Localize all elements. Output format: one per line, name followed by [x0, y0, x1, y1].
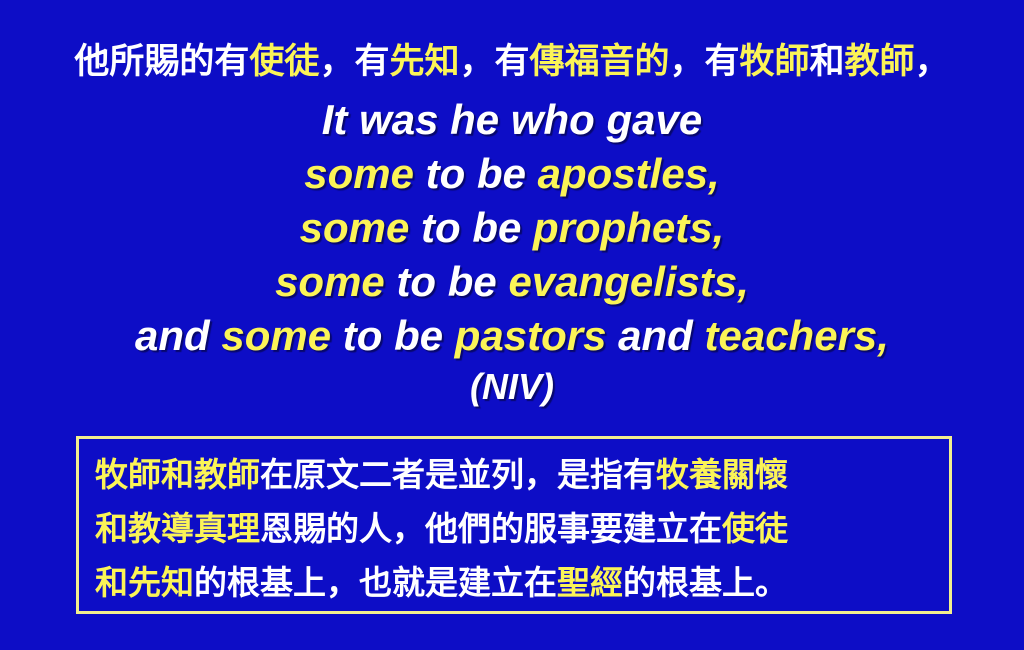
text-segment-highlight: 牧養關懷 [656, 455, 788, 494]
text-segment-plain: 和 [810, 42, 845, 82]
text-segment-plain: ，有 [459, 42, 529, 82]
text-segment-highlight: 和教導真理 [95, 509, 260, 548]
text-segment-plain: 的根基上，也就是建立在 [194, 563, 557, 602]
scripture-english-line: (NIV) [0, 363, 1024, 411]
presentation-slide: 他所賜的有使徒，有先知，有傳福音的，有牧師和教師， It was he who … [0, 0, 1024, 650]
commentary-text: 牧師和教師在原文二者是並列，是指有牧養關懷和教導真理恩賜的人，他們的服事要建立在… [95, 448, 933, 610]
text-segment-highlight: 牧師和教師 [95, 455, 260, 494]
text-segment-highlight: 使徒 [249, 42, 319, 82]
text-segment-highlight: prophets, [533, 204, 724, 251]
text-segment-highlight: some [304, 150, 414, 197]
text-segment-plain: 恩賜的人，他們的服事要建立在 [260, 509, 722, 548]
text-segment-highlight: pastors [455, 312, 607, 359]
commentary-box: 牧師和教師在原文二者是並列，是指有牧養關懷和教導真理恩賜的人，他們的服事要建立在… [76, 436, 952, 614]
text-segment-plain: to be [385, 258, 509, 305]
scripture-english-line: and some to be pastors and teachers, [0, 309, 1024, 363]
text-segment-plain: ，有 [319, 42, 389, 82]
text-segment-highlight: teachers, [705, 312, 889, 359]
text-segment-highlight: 使徒 [722, 509, 788, 548]
text-segment-plain: 在原文二者是並列，是指有 [260, 455, 656, 494]
text-segment-plain: to be [409, 204, 533, 251]
text-segment-plain: and [135, 312, 221, 359]
scripture-chinese-line: 他所賜的有使徒，有先知，有傳福音的，有牧師和教師， [0, 40, 1024, 84]
text-segment-highlight: evangelists, [508, 258, 748, 305]
scripture-english-line: some to be prophets, [0, 201, 1024, 255]
text-segment-highlight: 先知 [389, 42, 459, 82]
text-segment-highlight: 傳福音的 [529, 42, 669, 82]
text-segment-highlight: 牧師 [740, 42, 810, 82]
text-segment-highlight: some [221, 312, 331, 359]
scripture-english-block: It was he who gavesome to be apostles,so… [0, 93, 1024, 411]
text-segment-plain: ，有 [670, 42, 740, 82]
text-segment-highlight: 和先知 [95, 563, 194, 602]
text-segment-plain: to be [414, 150, 538, 197]
text-segment-highlight: some [275, 258, 385, 305]
text-segment-highlight: some [300, 204, 410, 251]
text-segment-plain: 他所賜的有 [74, 42, 249, 82]
text-segment-plain: 的根基上。 [623, 563, 788, 602]
scripture-english-line: some to be apostles, [0, 147, 1024, 201]
scripture-english-line: some to be evangelists, [0, 255, 1024, 309]
text-segment-plain: ， [915, 42, 950, 82]
commentary-line: 和教導真理恩賜的人，他們的服事要建立在使徒 [95, 502, 933, 556]
text-segment-highlight: 教師 [845, 42, 915, 82]
text-segment-highlight: apostles, [538, 150, 720, 197]
text-segment-plain: and [606, 312, 704, 359]
scripture-english-line: It was he who gave [0, 93, 1024, 147]
text-segment-plain: (NIV) [470, 366, 554, 407]
text-segment-highlight: 聖經 [557, 563, 623, 602]
commentary-line: 和先知的根基上，也就是建立在聖經的根基上。 [95, 556, 933, 610]
commentary-line: 牧師和教師在原文二者是並列，是指有牧養關懷 [95, 448, 933, 502]
text-segment-plain: It was he who gave [322, 96, 702, 143]
text-segment-plain: to be [331, 312, 455, 359]
